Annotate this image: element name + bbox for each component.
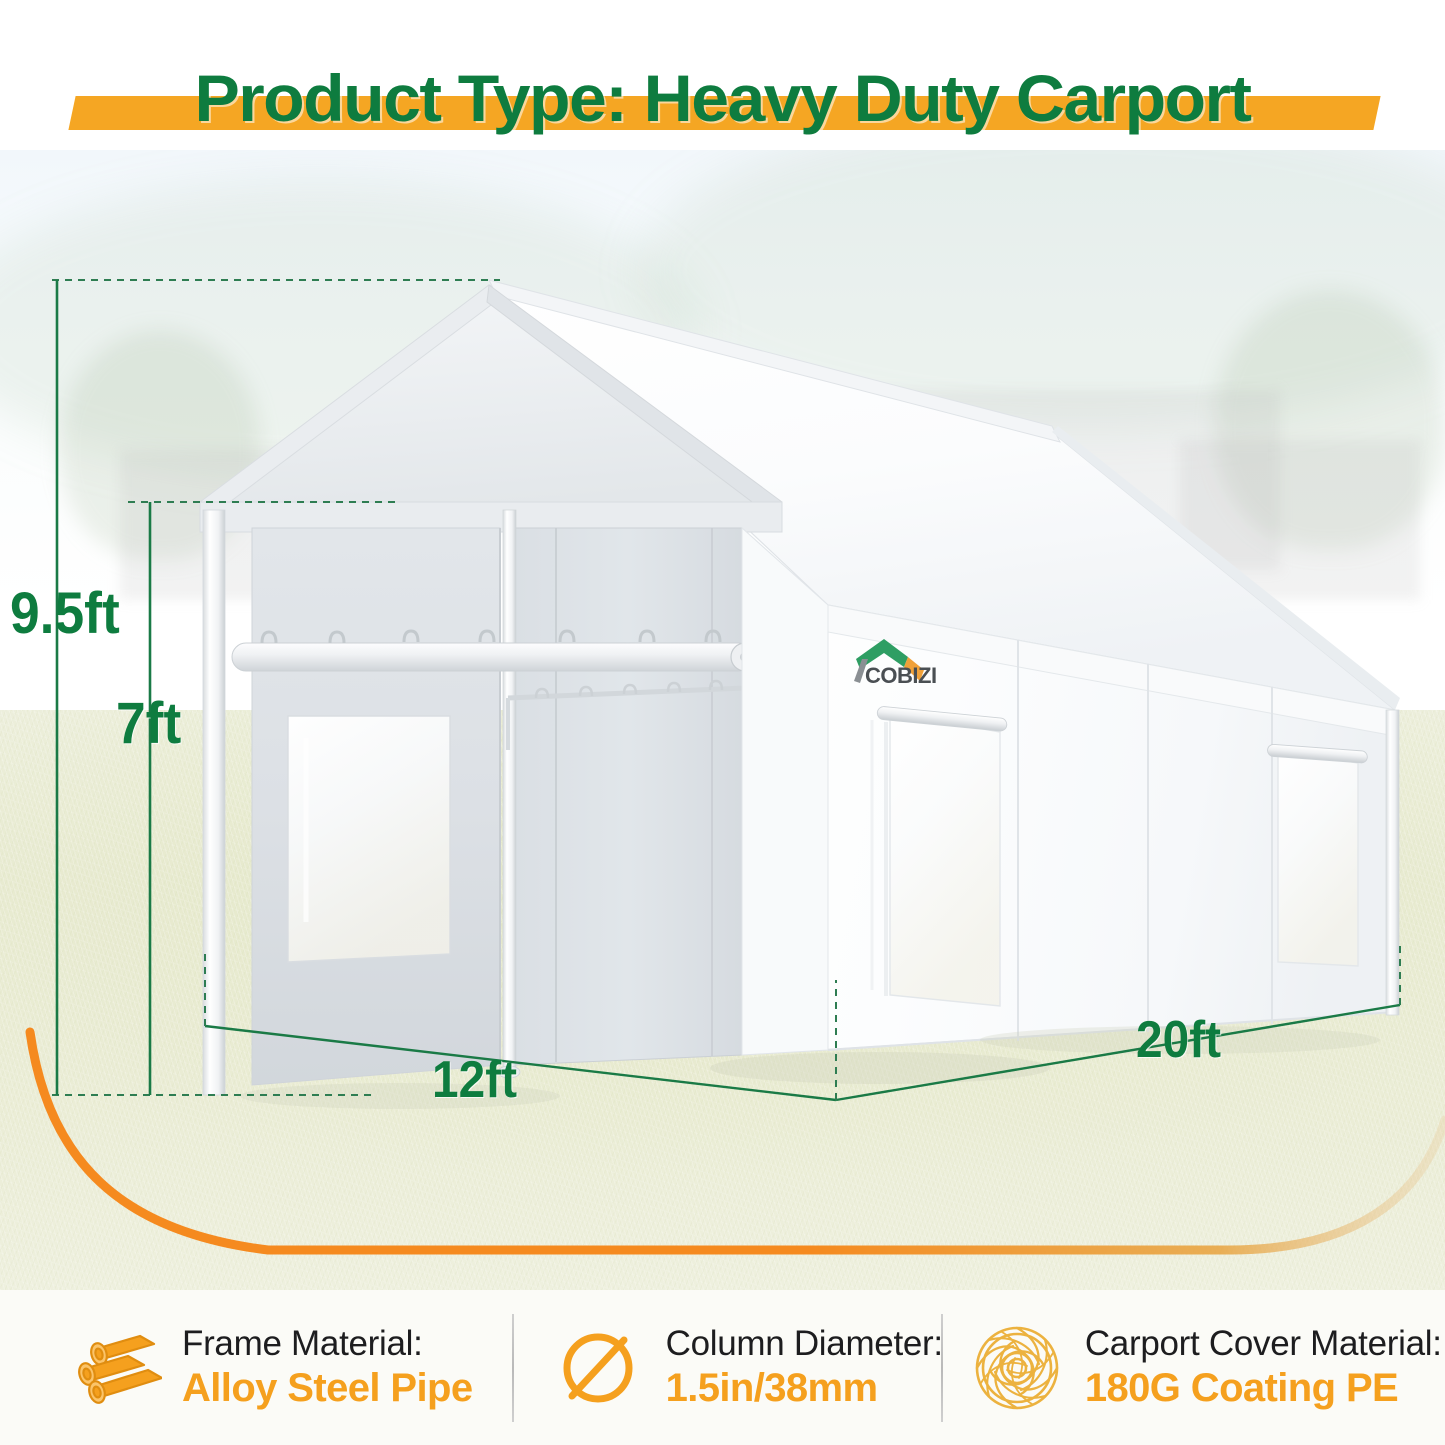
feature-label: Carport Cover Material: — [1085, 1323, 1442, 1364]
feature-bar: Frame Material: Alloy Steel Pipe Column … — [0, 1290, 1445, 1445]
diameter-symbol-icon — [550, 1320, 646, 1416]
feature-column-diameter: Column Diameter: 1.5in/38mm — [514, 1308, 943, 1428]
woven-fabric-knot-icon — [969, 1320, 1065, 1416]
page-title: Product Type: Heavy Duty Carport — [0, 60, 1445, 136]
page-title-banner: Product Type: Heavy Duty Carport — [0, 52, 1445, 152]
feature-label: Column Diameter: — [666, 1323, 943, 1364]
dimension-label-peak-height: 9.5ft — [10, 580, 120, 647]
dimension-label-eave-height: 7ft — [116, 690, 181, 757]
dimension-labels: 9.5ft 7ft 12ft 20ft — [0, 150, 1445, 1290]
feature-value: 1.5in/38mm — [666, 1365, 943, 1412]
feature-value: Alloy Steel Pipe — [182, 1365, 473, 1412]
feature-label: Frame Material: — [182, 1323, 473, 1364]
feature-cover-material: Carport Cover Material: 180G Coating PE — [943, 1308, 1445, 1428]
dimension-label-length: 20ft — [1136, 1010, 1221, 1070]
dimension-label-width: 12ft — [432, 1050, 517, 1110]
steel-pipe-icon — [66, 1320, 162, 1416]
feature-frame-material: Frame Material: Alloy Steel Pipe — [0, 1308, 514, 1428]
feature-value: 180G Coating PE — [1085, 1365, 1442, 1412]
